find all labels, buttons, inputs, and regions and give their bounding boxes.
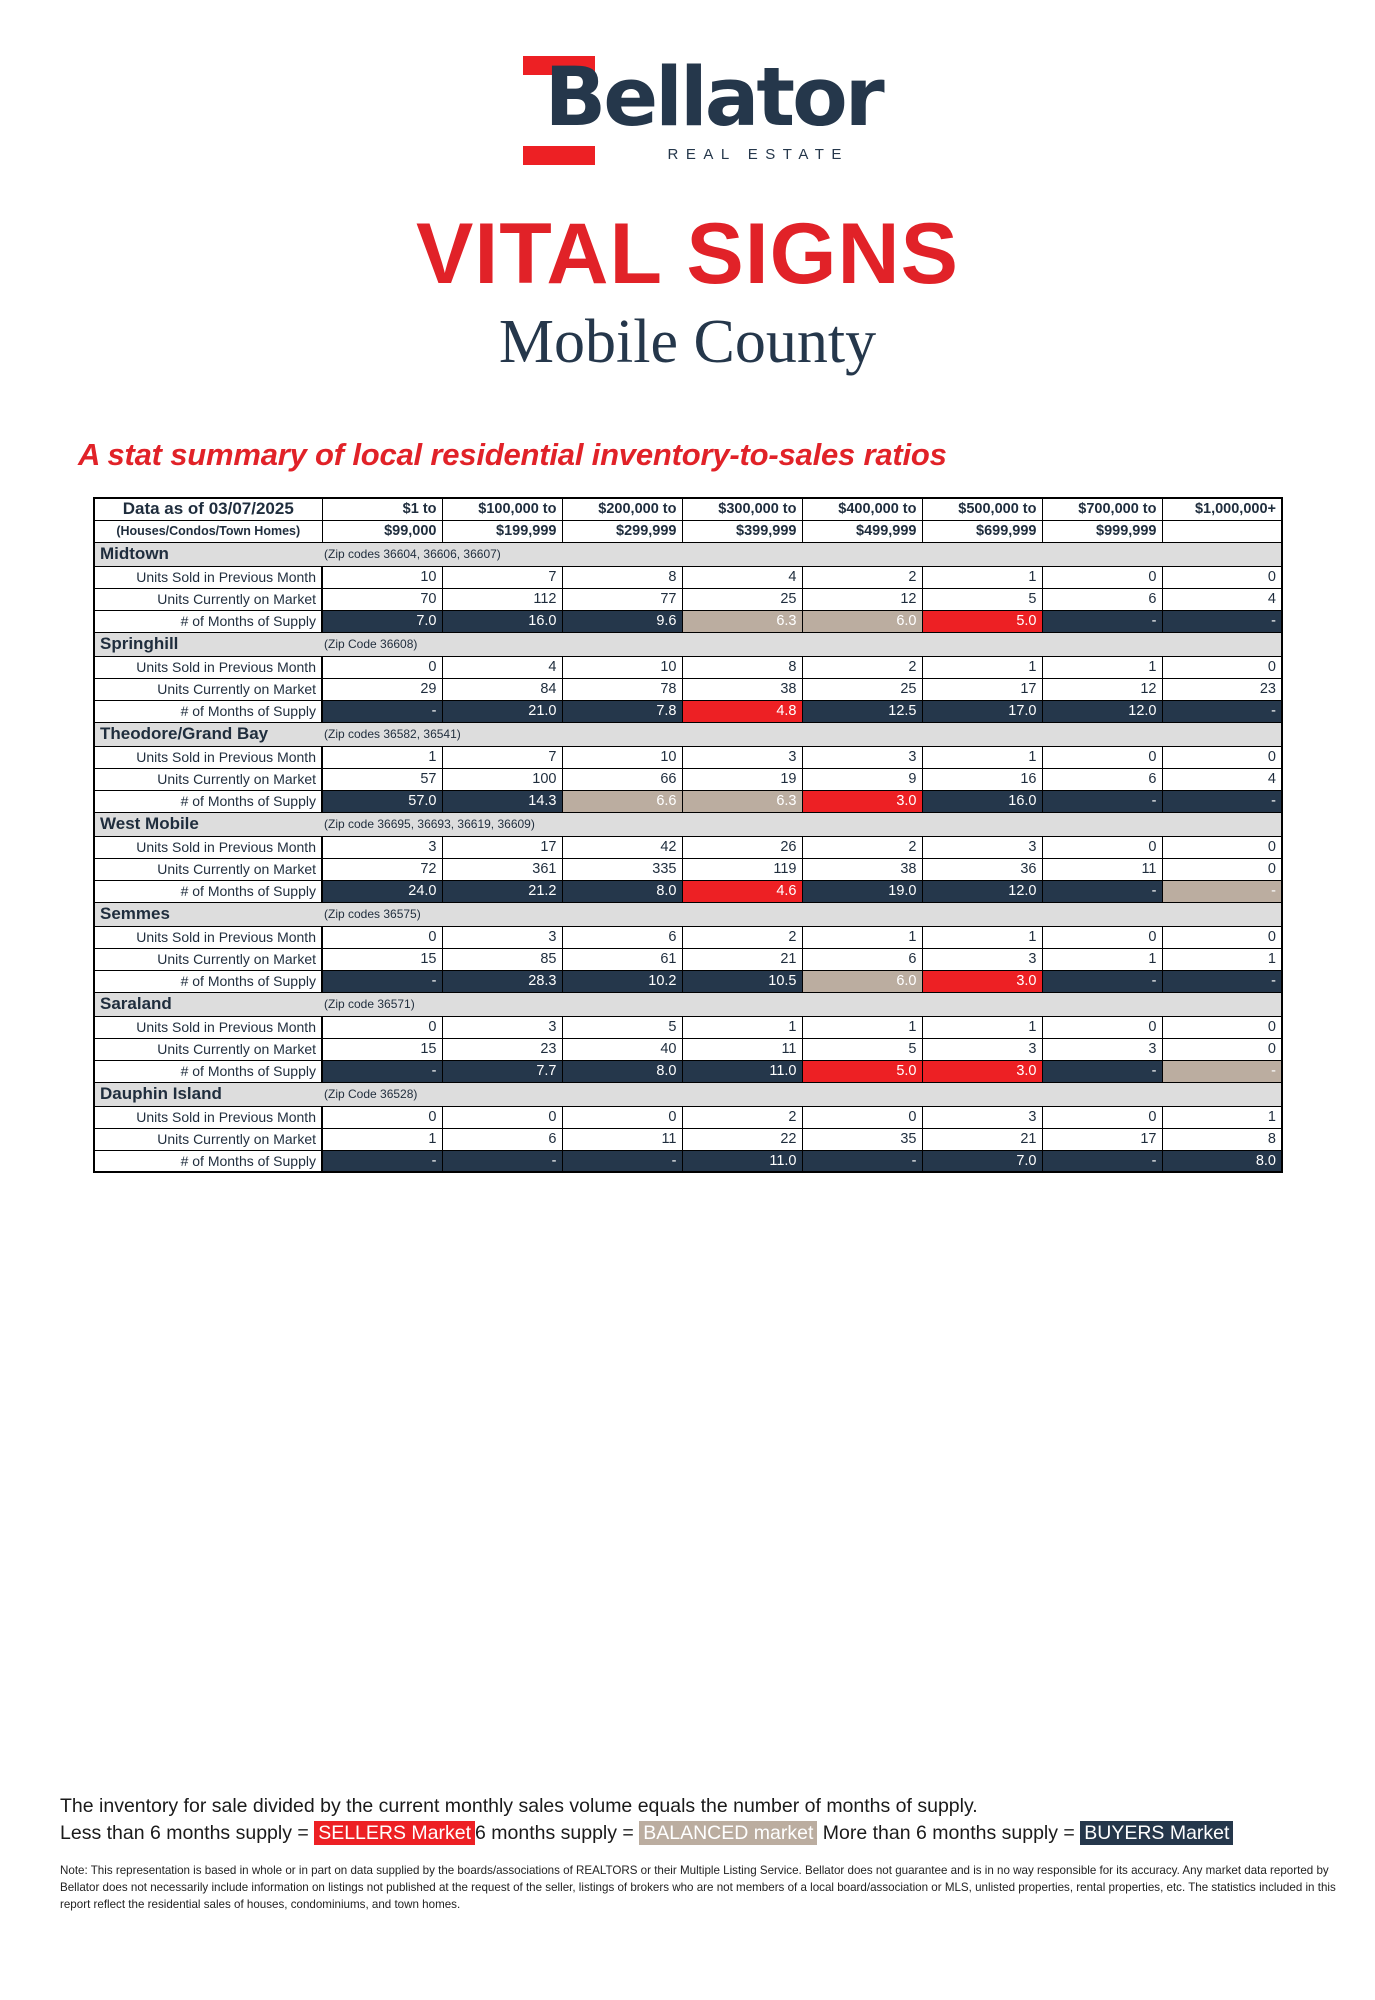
row-label-units-on-market: Units Currently on Market (94, 588, 322, 610)
table-row: # of Months of Supply-21.07.84.812.517.0… (94, 700, 1282, 722)
cell-units-on-market: 61 (562, 948, 682, 970)
cell-months-supply: - (1042, 790, 1162, 812)
table-row: # of Months of Supply57.014.36.66.33.016… (94, 790, 1282, 812)
legend: Less than 6 months supply = SELLERS Mark… (60, 1822, 1350, 1845)
cell-units-on-market: 5 (922, 588, 1042, 610)
table-row: Units Sold in Previous Month00020301 (94, 1106, 1282, 1128)
section-header: Saraland(Zip code 36571) (94, 992, 1282, 1016)
cell-units-sold: 0 (322, 656, 442, 678)
cell-units-on-market: 36 (922, 858, 1042, 880)
section-zipcodes: (Zip codes 36582, 36541) (322, 722, 1162, 746)
cell-units-sold: 7 (442, 746, 562, 768)
cell-units-sold: 0 (1162, 836, 1282, 858)
table-row: Units Sold in Previous Month31742262300 (94, 836, 1282, 858)
table-row: # of Months of Supply-7.78.011.05.03.0-- (94, 1060, 1282, 1082)
cell-months-supply: - (322, 1150, 442, 1172)
cell-units-on-market: 1 (322, 1128, 442, 1150)
cell-months-supply: 10.5 (682, 970, 802, 992)
cell-units-sold: 2 (802, 836, 922, 858)
section-name: Midtown (94, 542, 322, 566)
cell-units-on-market: 40 (562, 1038, 682, 1060)
cell-months-supply: 57.0 (322, 790, 442, 812)
section-spacer (1162, 1082, 1282, 1106)
section-header: Midtown(Zip codes 36604, 36606, 36607) (94, 542, 1282, 566)
cell-units-on-market: 12 (1042, 678, 1162, 700)
cell-units-on-market: 16 (922, 768, 1042, 790)
cell-months-supply: - (1042, 970, 1162, 992)
cell-units-on-market: 78 (562, 678, 682, 700)
cell-units-on-market: 57 (322, 768, 442, 790)
cell-months-supply: - (1042, 1150, 1162, 1172)
cell-units-on-market: 38 (682, 678, 802, 700)
cell-months-supply: 7.7 (442, 1060, 562, 1082)
section-header: Theodore/Grand Bay(Zip codes 36582, 3654… (94, 722, 1282, 746)
cell-months-supply: 10.2 (562, 970, 682, 992)
cell-units-sold: 0 (1042, 746, 1162, 768)
table-row: Units Sold in Previous Month03621100 (94, 926, 1282, 948)
column-header-bottom-7 (1162, 520, 1282, 542)
cell-units-on-market: 100 (442, 768, 562, 790)
cell-units-on-market: 119 (682, 858, 802, 880)
cell-months-supply: 16.0 (922, 790, 1042, 812)
cell-units-on-market: 6 (1042, 768, 1162, 790)
row-label-units-on-market: Units Currently on Market (94, 1038, 322, 1060)
cell-units-on-market: 19 (682, 768, 802, 790)
row-label-units-sold: Units Sold in Previous Month (94, 566, 322, 588)
column-header-bottom-5: $699,999 (922, 520, 1042, 542)
cell-units-sold: 0 (1162, 926, 1282, 948)
table-row: Units Sold in Previous Month107842100 (94, 566, 1282, 588)
cell-units-sold: 4 (682, 566, 802, 588)
legend-balanced-chip: BALANCED market (639, 1821, 817, 1845)
section-header: West Mobile(Zip code 36695, 36693, 36619… (94, 812, 1282, 836)
cell-units-on-market: 4 (1162, 768, 1282, 790)
section-zipcodes: (Zip Code 36528) (322, 1082, 1162, 1106)
page-title: VITAL SIGNS (0, 211, 1375, 297)
cell-months-supply: 12.0 (922, 880, 1042, 902)
cell-units-sold: 1 (1162, 1106, 1282, 1128)
cell-months-supply: - (1162, 1060, 1282, 1082)
row-label-units-on-market: Units Currently on Market (94, 948, 322, 970)
cell-months-supply: 28.3 (442, 970, 562, 992)
logo-wordmark: Bellator (545, 58, 882, 139)
cell-units-on-market: 84 (442, 678, 562, 700)
cell-units-sold: 1 (682, 1016, 802, 1038)
cell-units-on-market: 15 (322, 1038, 442, 1060)
cell-months-supply: 5.0 (922, 610, 1042, 632)
cell-units-sold: 2 (682, 926, 802, 948)
cell-months-supply: 11.0 (682, 1150, 802, 1172)
row-label-units-sold: Units Sold in Previous Month (94, 1106, 322, 1128)
cell-months-supply: 12.5 (802, 700, 922, 722)
cell-units-on-market: 1 (1042, 948, 1162, 970)
cell-units-sold: 10 (562, 656, 682, 678)
cell-units-sold: 3 (682, 746, 802, 768)
cell-units-on-market: 0 (1162, 858, 1282, 880)
row-label-units-sold: Units Sold in Previous Month (94, 1016, 322, 1038)
cell-months-supply: 14.3 (442, 790, 562, 812)
cell-units-on-market: 3 (1042, 1038, 1162, 1060)
cell-units-sold: 1 (922, 926, 1042, 948)
column-header-bottom-4: $499,999 (802, 520, 922, 542)
cell-months-supply: 6.3 (682, 610, 802, 632)
logo-tagline: REAL ESTATE (668, 146, 849, 163)
cell-units-sold: 1 (922, 656, 1042, 678)
cell-months-supply: 4.8 (682, 700, 802, 722)
cell-months-supply: 21.2 (442, 880, 562, 902)
cell-units-sold: 0 (1162, 656, 1282, 678)
cell-units-on-market: 6 (442, 1128, 562, 1150)
cell-units-sold: 0 (1162, 566, 1282, 588)
cell-months-supply: 24.0 (322, 880, 442, 902)
column-header-top-4: $400,000 to (802, 498, 922, 520)
cell-units-sold: 3 (322, 836, 442, 858)
cell-units-on-market: 35 (802, 1128, 922, 1150)
column-header-top-1: $100,000 to (442, 498, 562, 520)
cell-units-sold: 3 (442, 1016, 562, 1038)
cell-units-sold: 42 (562, 836, 682, 858)
cell-months-supply: 8.0 (562, 880, 682, 902)
vital-signs-table-wrapper: Data as of 03/07/2025$1 to$100,000 to$20… (0, 497, 1375, 1173)
cell-units-on-market: 23 (1162, 678, 1282, 700)
cell-units-on-market: 5 (802, 1038, 922, 1060)
section-name: Springhill (94, 632, 322, 656)
table-row: # of Months of Supply-28.310.210.56.03.0… (94, 970, 1282, 992)
cell-units-on-market: 361 (442, 858, 562, 880)
table-row: Units Currently on Market57100661991664 (94, 768, 1282, 790)
cell-units-on-market: 12 (802, 588, 922, 610)
cell-units-sold: 0 (1042, 836, 1162, 858)
cell-units-sold: 8 (682, 656, 802, 678)
cell-units-sold: 7 (442, 566, 562, 588)
cell-units-on-market: 17 (1042, 1128, 1162, 1150)
cell-units-sold: 0 (442, 1106, 562, 1128)
cell-months-supply: - (1042, 1060, 1162, 1082)
row-label-months-supply: # of Months of Supply (94, 1060, 322, 1082)
cell-units-on-market: 6 (1042, 588, 1162, 610)
cell-months-supply: 8.0 (1162, 1150, 1282, 1172)
cell-units-sold: 0 (1042, 566, 1162, 588)
column-header-bottom-2: $299,999 (562, 520, 682, 542)
vital-signs-table: Data as of 03/07/2025$1 to$100,000 to$20… (93, 497, 1283, 1173)
cell-months-supply: 3.0 (802, 790, 922, 812)
footer-definition: The inventory for sale divided by the cu… (60, 1795, 1350, 1818)
section-spacer (1162, 812, 1282, 836)
row-label-months-supply: # of Months of Supply (94, 700, 322, 722)
cell-units-sold: 2 (802, 656, 922, 678)
section-name: Saraland (94, 992, 322, 1016)
section-zipcodes: (Zip Code 36608) (322, 632, 1162, 656)
table-row: Units Currently on Market152340115330 (94, 1038, 1282, 1060)
cell-units-sold: 1 (922, 746, 1042, 768)
cell-units-sold: 1 (922, 1016, 1042, 1038)
section-zipcodes: (Zip codes 36604, 36606, 36607) (322, 542, 1162, 566)
cell-months-supply: 9.6 (562, 610, 682, 632)
bellator-logo: Bellator REAL ESTATE (523, 52, 853, 177)
cell-units-on-market: 21 (922, 1128, 1042, 1150)
column-header-bottom-0: $99,000 (322, 520, 442, 542)
cell-units-sold: 0 (322, 1106, 442, 1128)
row-label-months-supply: # of Months of Supply (94, 970, 322, 992)
cell-units-on-market: 70 (322, 588, 442, 610)
table-row: Units Sold in Previous Month03511100 (94, 1016, 1282, 1038)
table-corner-subtitle: (Houses/Condos/Town Homes) (94, 520, 322, 542)
cell-months-supply: 3.0 (922, 1060, 1042, 1082)
row-label-units-on-market: Units Currently on Market (94, 678, 322, 700)
cell-units-on-market: 85 (442, 948, 562, 970)
cell-units-on-market: 23 (442, 1038, 562, 1060)
cell-months-supply: - (322, 970, 442, 992)
section-zipcodes: (Zip code 36695, 36693, 36619, 36609) (322, 812, 1162, 836)
column-header-top-5: $500,000 to (922, 498, 1042, 520)
cell-units-on-market: 15 (322, 948, 442, 970)
section-name: Semmes (94, 902, 322, 926)
section-name: Dauphin Island (94, 1082, 322, 1106)
logo-red-bar-bottom (523, 146, 595, 165)
cell-units-sold: 1 (802, 926, 922, 948)
cell-units-on-market: 25 (802, 678, 922, 700)
cell-units-on-market: 38 (802, 858, 922, 880)
cell-units-sold: 10 (562, 746, 682, 768)
table-row: # of Months of Supply---11.0-7.0-8.0 (94, 1150, 1282, 1172)
page-subtitle: Mobile County (0, 311, 1375, 373)
cell-months-supply: 6.3 (682, 790, 802, 812)
cell-months-supply: 6.6 (562, 790, 682, 812)
cell-units-on-market: 3 (922, 1038, 1042, 1060)
cell-months-supply: - (442, 1150, 562, 1172)
cell-units-on-market: 11 (682, 1038, 802, 1060)
cell-units-sold: 3 (922, 1106, 1042, 1128)
cell-units-sold: 3 (802, 746, 922, 768)
cell-months-supply: 7.0 (322, 610, 442, 632)
cell-units-sold: 0 (562, 1106, 682, 1128)
cell-months-supply: 4.6 (682, 880, 802, 902)
cell-units-on-market: 4 (1162, 588, 1282, 610)
cell-months-supply: 7.8 (562, 700, 682, 722)
cell-months-supply: 11.0 (682, 1060, 802, 1082)
cell-months-supply: - (322, 700, 442, 722)
table-row: Units Currently on Market723613351193836… (94, 858, 1282, 880)
section-header: Springhill(Zip Code 36608) (94, 632, 1282, 656)
logo-block: Bellator REAL ESTATE (0, 0, 1375, 177)
table-row: Units Currently on Market1611223521178 (94, 1128, 1282, 1150)
table-row: Units Sold in Previous Month171033100 (94, 746, 1282, 768)
cell-units-sold: 26 (682, 836, 802, 858)
cell-units-on-market: 72 (322, 858, 442, 880)
cell-units-on-market: 335 (562, 858, 682, 880)
cell-units-on-market: 9 (802, 768, 922, 790)
cell-months-supply: 19.0 (802, 880, 922, 902)
cell-months-supply: - (1162, 610, 1282, 632)
cell-units-sold: 1 (802, 1016, 922, 1038)
cell-months-supply: - (322, 1060, 442, 1082)
legend-buyers-chip: BUYERS Market (1080, 1821, 1233, 1845)
cell-units-on-market: 112 (442, 588, 562, 610)
table-row: Units Sold in Previous Month041082110 (94, 656, 1282, 678)
cell-units-sold: 1 (922, 566, 1042, 588)
cell-units-sold: 6 (562, 926, 682, 948)
cell-units-on-market: 29 (322, 678, 442, 700)
cell-units-on-market: 77 (562, 588, 682, 610)
page-tagline: A stat summary of local residential inve… (0, 437, 1375, 473)
column-header-top-6: $700,000 to (1042, 498, 1162, 520)
column-header-bottom-6: $999,999 (1042, 520, 1162, 542)
cell-months-supply: 6.0 (802, 970, 922, 992)
cell-units-on-market: 66 (562, 768, 682, 790)
section-spacer (1162, 542, 1282, 566)
cell-months-supply: 16.0 (442, 610, 562, 632)
cell-units-sold: 2 (802, 566, 922, 588)
cell-units-sold: 1 (322, 746, 442, 768)
cell-months-supply: 6.0 (802, 610, 922, 632)
cell-months-supply: - (1162, 970, 1282, 992)
cell-units-sold: 0 (802, 1106, 922, 1128)
legend-sellers-chip: SELLERS Market (314, 1821, 475, 1845)
cell-months-supply: 8.0 (562, 1060, 682, 1082)
section-spacer (1162, 992, 1282, 1016)
cell-months-supply: - (1162, 880, 1282, 902)
table-row: # of Months of Supply7.016.09.66.36.05.0… (94, 610, 1282, 632)
cell-months-supply: 3.0 (922, 970, 1042, 992)
section-spacer (1162, 902, 1282, 926)
cell-units-sold: 0 (1042, 926, 1162, 948)
cell-units-on-market: 17 (922, 678, 1042, 700)
cell-months-supply: - (562, 1150, 682, 1172)
cell-months-supply: 7.0 (922, 1150, 1042, 1172)
legend-sellers-label: Less than 6 months supply = (60, 1822, 314, 1844)
table-row: # of Months of Supply24.021.28.04.619.01… (94, 880, 1282, 902)
cell-units-sold: 3 (922, 836, 1042, 858)
column-header-bottom-1: $199,999 (442, 520, 562, 542)
section-header: Semmes(Zip codes 36575) (94, 902, 1282, 926)
row-label-units-on-market: Units Currently on Market (94, 1128, 322, 1150)
cell-units-sold: 10 (322, 566, 442, 588)
cell-units-on-market: 25 (682, 588, 802, 610)
cell-months-supply: 12.0 (1042, 700, 1162, 722)
cell-units-sold: 0 (1042, 1016, 1162, 1038)
legend-balanced-label: 6 months supply = (475, 1822, 639, 1844)
section-zipcodes: (Zip code 36571) (322, 992, 1162, 1016)
table-header-bottom: (Houses/Condos/Town Homes)$99,000$199,99… (94, 520, 1282, 542)
table-corner-title: Data as of 03/07/2025 (94, 498, 322, 520)
cell-months-supply: - (1042, 610, 1162, 632)
section-spacer (1162, 632, 1282, 656)
cell-units-on-market: 21 (682, 948, 802, 970)
table-row: Units Currently on Market158561216311 (94, 948, 1282, 970)
row-label-units-sold: Units Sold in Previous Month (94, 926, 322, 948)
row-label-months-supply: # of Months of Supply (94, 1150, 322, 1172)
cell-units-on-market: 8 (1162, 1128, 1282, 1150)
cell-units-on-market: 11 (1042, 858, 1162, 880)
cell-units-on-market: 11 (562, 1128, 682, 1150)
cell-months-supply: - (1042, 880, 1162, 902)
cell-units-sold: 0 (1042, 1106, 1162, 1128)
cell-units-sold: 8 (562, 566, 682, 588)
legend-buyers-label: More than 6 months supply = (817, 1822, 1080, 1844)
row-label-units-on-market: Units Currently on Market (94, 858, 322, 880)
section-spacer (1162, 722, 1282, 746)
column-header-top-3: $300,000 to (682, 498, 802, 520)
row-label-months-supply: # of Months of Supply (94, 880, 322, 902)
cell-units-sold: 0 (322, 1016, 442, 1038)
cell-months-supply: - (802, 1150, 922, 1172)
cell-months-supply: - (1162, 790, 1282, 812)
cell-units-sold: 3 (442, 926, 562, 948)
cell-units-on-market: 3 (922, 948, 1042, 970)
cell-months-supply: 17.0 (922, 700, 1042, 722)
table-header-top: Data as of 03/07/2025$1 to$100,000 to$20… (94, 498, 1282, 520)
cell-months-supply: - (1162, 700, 1282, 722)
cell-units-sold: 0 (1162, 746, 1282, 768)
row-label-months-supply: # of Months of Supply (94, 790, 322, 812)
column-header-top-2: $200,000 to (562, 498, 682, 520)
cell-units-sold: 4 (442, 656, 562, 678)
cell-units-on-market: 6 (802, 948, 922, 970)
table-row: Units Currently on Market298478382517122… (94, 678, 1282, 700)
section-header: Dauphin Island(Zip Code 36528) (94, 1082, 1282, 1106)
row-label-units-on-market: Units Currently on Market (94, 768, 322, 790)
cell-units-on-market: 0 (1162, 1038, 1282, 1060)
row-label-units-sold: Units Sold in Previous Month (94, 656, 322, 678)
cell-units-sold: 2 (682, 1106, 802, 1128)
cell-units-sold: 5 (562, 1016, 682, 1038)
cell-units-sold: 17 (442, 836, 562, 858)
column-header-bottom-3: $399,999 (682, 520, 802, 542)
section-name: West Mobile (94, 812, 322, 836)
row-label-units-sold: Units Sold in Previous Month (94, 836, 322, 858)
row-label-months-supply: # of Months of Supply (94, 610, 322, 632)
section-zipcodes: (Zip codes 36575) (322, 902, 1162, 926)
cell-units-sold: 0 (322, 926, 442, 948)
cell-months-supply: 5.0 (802, 1060, 922, 1082)
section-name: Theodore/Grand Bay (94, 722, 322, 746)
column-header-top-7: $1,000,000+ (1162, 498, 1282, 520)
table-row: Units Currently on Market70112772512564 (94, 588, 1282, 610)
cell-units-on-market: 1 (1162, 948, 1282, 970)
column-header-top-0: $1 to (322, 498, 442, 520)
cell-units-on-market: 22 (682, 1128, 802, 1150)
footer: The inventory for sale divided by the cu… (60, 1795, 1350, 1913)
disclaimer-note: Note: This representation is based in wh… (60, 1863, 1350, 1913)
cell-months-supply: 21.0 (442, 700, 562, 722)
row-label-units-sold: Units Sold in Previous Month (94, 746, 322, 768)
cell-units-sold: 0 (1162, 1016, 1282, 1038)
cell-units-sold: 1 (1042, 656, 1162, 678)
